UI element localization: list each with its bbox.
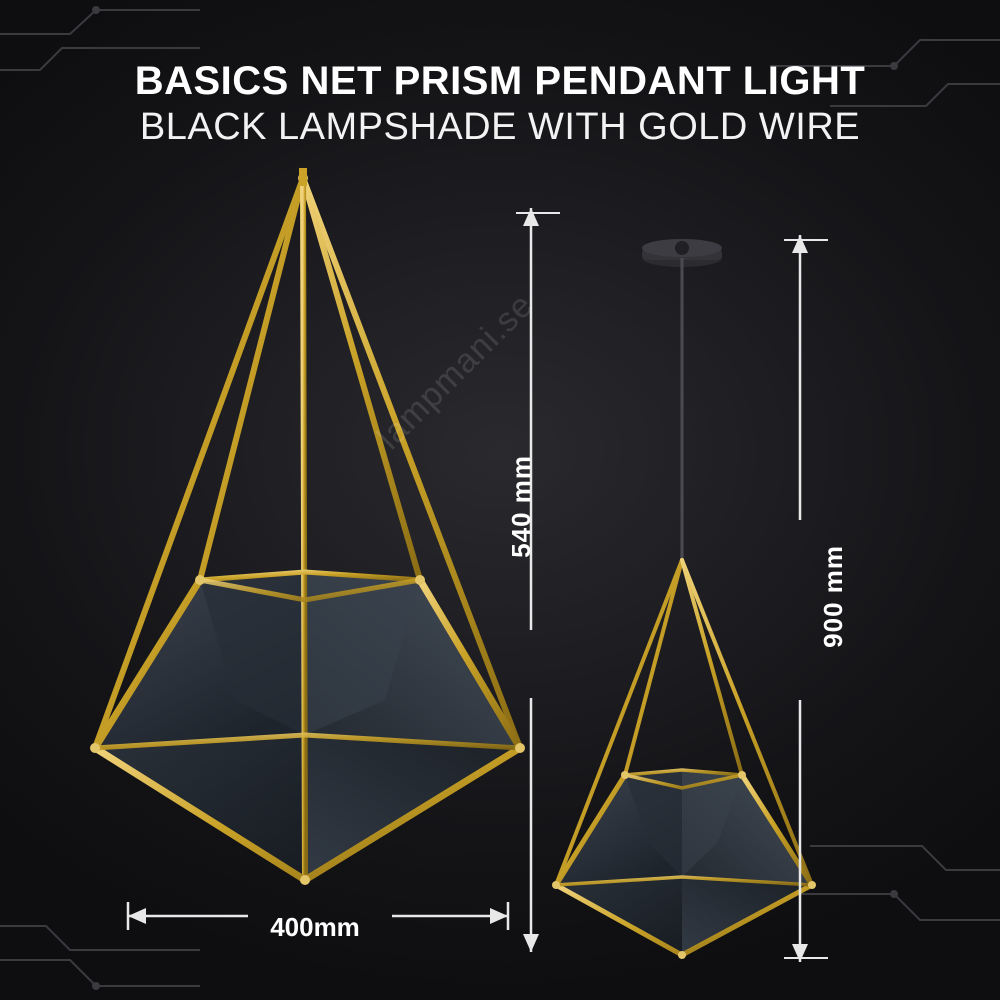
product-image-canvas: BASICS NET PRISM PENDANT LIGHT BLACK LAM… bbox=[0, 0, 1000, 1000]
dimension-shade-height-label: 540 mm bbox=[506, 455, 537, 558]
page-title: BASICS NET PRISM PENDANT LIGHT bbox=[0, 58, 1000, 104]
dimension-total-height-label: 900 mm bbox=[818, 545, 849, 648]
dimension-width-label: 400mm bbox=[0, 912, 630, 943]
lamp-small bbox=[552, 239, 816, 959]
page-subtitle: BLACK LAMPSHADE WITH GOLD WIRE bbox=[0, 104, 1000, 150]
title-block: BASICS NET PRISM PENDANT LIGHT BLACK LAM… bbox=[0, 58, 1000, 150]
product-illustration bbox=[0, 0, 1000, 1000]
lamp-large bbox=[90, 168, 525, 885]
